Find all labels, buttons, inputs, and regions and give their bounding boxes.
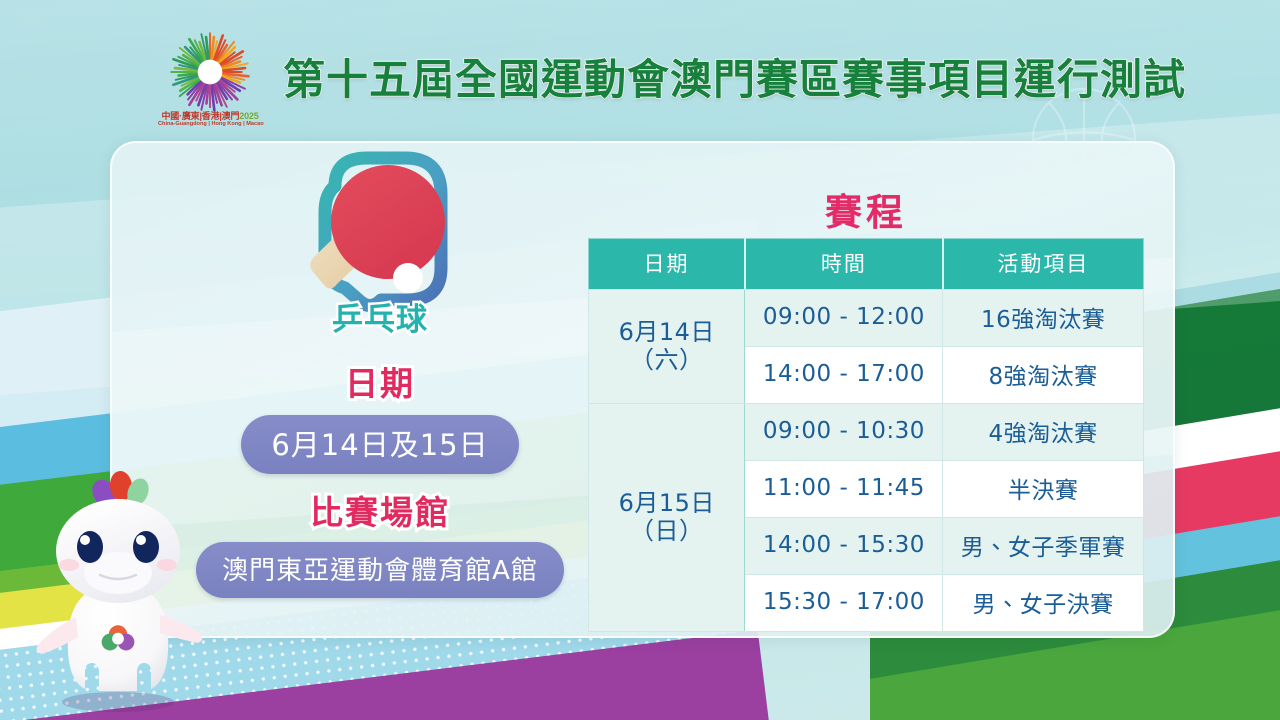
cell-event: 16強淘汰賽 — [943, 290, 1144, 347]
emblem-chinese-text: 中國·廣東|香港|澳門2025 — [158, 112, 262, 121]
column-header-time: 時間 — [745, 239, 943, 290]
date-weekday: （六） — [591, 347, 742, 375]
cell-date: 6月14日（六） — [589, 290, 745, 404]
date-label: 日期 — [345, 357, 415, 405]
poster-canvas: 中國·廣東|香港|澳門2025 China-Guangdong | Hong K… — [0, 0, 1280, 720]
cell-event: 男、女子決賽 — [943, 575, 1144, 632]
cell-time: 14:00 - 17:00 — [745, 347, 943, 404]
cell-time: 09:00 - 10:30 — [745, 404, 943, 461]
schedule-table: 日期 時間 活動項目 6月14日（六）09:00 - 12:0016強淘汰賽14… — [588, 238, 1144, 632]
games-emblem: 中國·廣東|香港|澳門2025 China-Guangdong | Hong K… — [158, 28, 262, 136]
cell-time: 14:00 - 15:30 — [745, 518, 943, 575]
page-header: 中國·廣東|香港|澳門2025 China-Guangdong | Hong K… — [0, 0, 1280, 130]
page-title: 第十五屆全國運動會澳門賽區賽事項目運行測試 — [283, 46, 1186, 107]
cell-event: 8強淘汰賽 — [943, 347, 1144, 404]
date-day: 6月15日 — [591, 490, 742, 518]
cell-event: 半決賽 — [943, 461, 1144, 518]
chinese-white-dolphin-mascot — [18, 465, 218, 720]
emblem-burst-icon — [166, 28, 254, 116]
date-day: 6月14日 — [591, 319, 742, 347]
emblem-english-text: China-Guangdong | Hong Kong | Macao — [158, 122, 262, 128]
cell-time: 09:00 - 12:00 — [745, 290, 943, 347]
cell-event: 男、女子季軍賽 — [943, 518, 1144, 575]
cell-date: 6月15日（日） — [589, 404, 745, 632]
schedule-title: 賽程 — [588, 182, 1144, 236]
event-info-panel: 乒乓球 日期 6月14日及15日 比賽場館 澳門東亞運動會體育館A館 — [175, 150, 585, 598]
venue-label: 比賽場館 — [310, 486, 450, 534]
date-value-pill: 6月14日及15日 — [241, 415, 518, 474]
table-header-row: 日期 時間 活動項目 — [589, 239, 1144, 290]
cell-time: 11:00 - 11:45 — [745, 461, 943, 518]
sport-name-label: 乒乓球 — [275, 294, 485, 339]
cell-time: 15:30 - 17:00 — [745, 575, 943, 632]
venue-value-pill: 澳門東亞運動會體育館A館 — [196, 542, 564, 598]
emblem-year: 2025 — [239, 111, 258, 121]
cell-event: 4強淘汰賽 — [943, 404, 1144, 461]
column-header-event: 活動項目 — [943, 239, 1144, 290]
table-row: 6月14日（六）09:00 - 12:0016強淘汰賽 — [589, 290, 1144, 347]
table-tennis-icon: 乒乓球 — [275, 150, 485, 345]
schedule-table-body: 6月14日（六）09:00 - 12:0016強淘汰賽14:00 - 17:00… — [589, 290, 1144, 632]
table-row: 6月15日（日）09:00 - 10:304強淘汰賽 — [589, 404, 1144, 461]
date-weekday: （日） — [591, 518, 742, 546]
emblem-wordmark: 中國·廣東|香港|澳門2025 China-Guangdong | Hong K… — [158, 112, 262, 128]
column-header-date: 日期 — [589, 239, 745, 290]
